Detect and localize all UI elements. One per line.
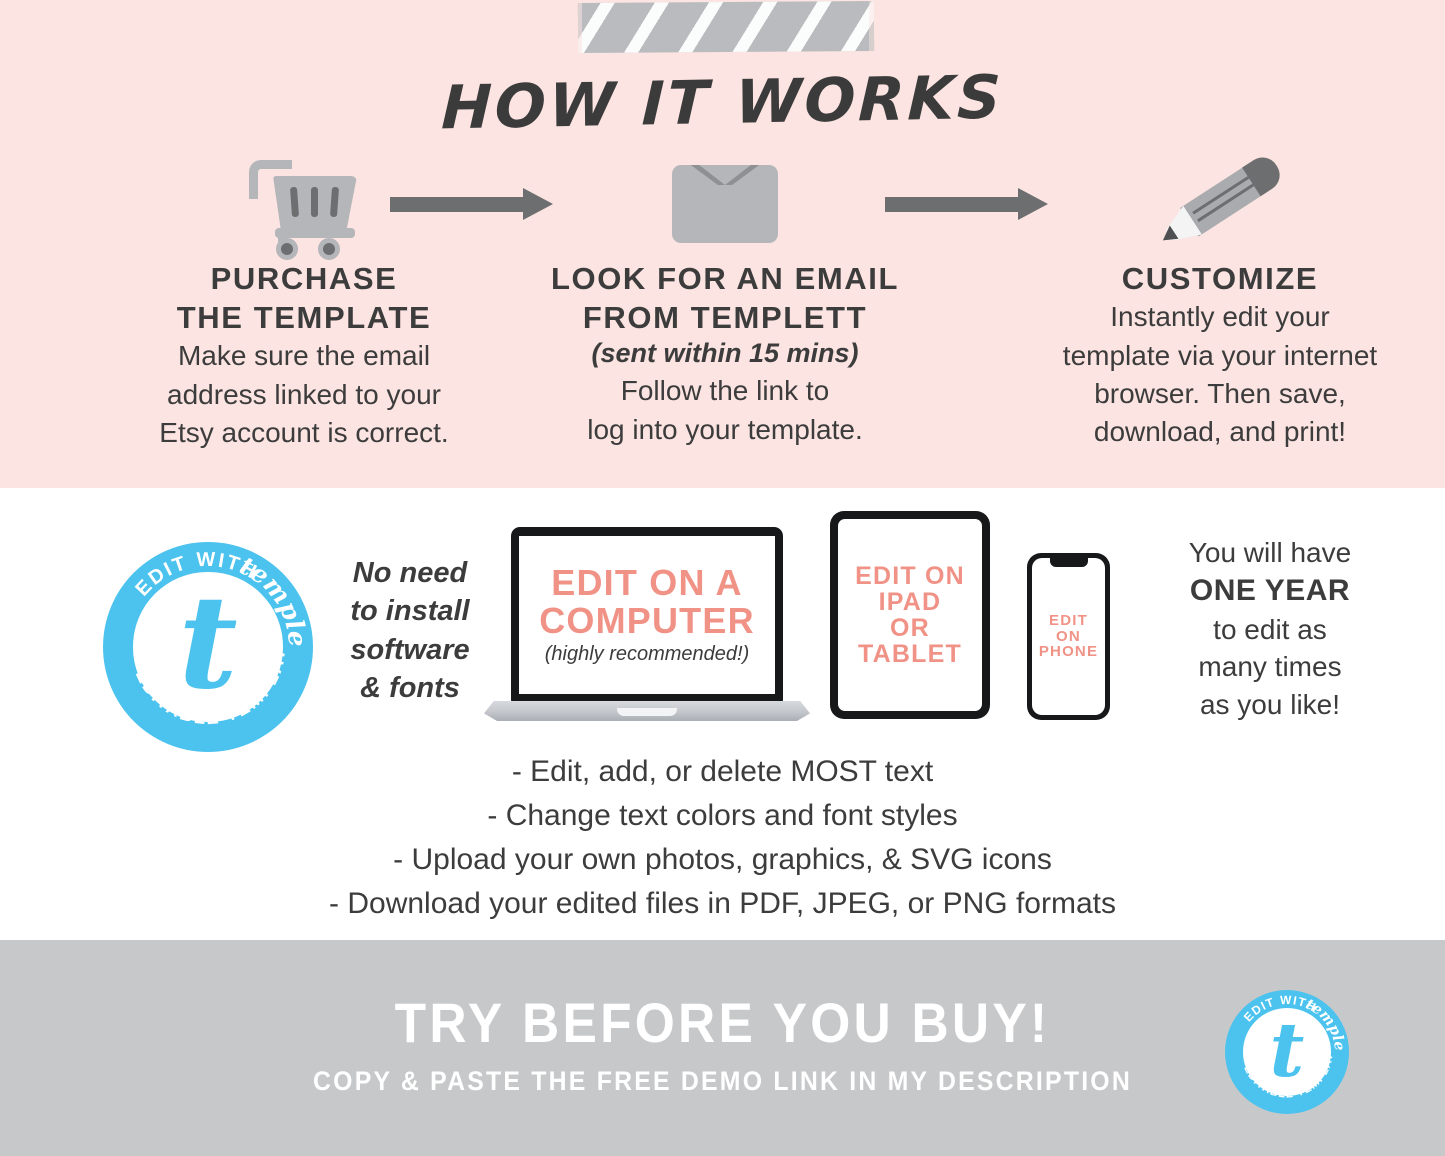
footer-headline: TRY BEFORE YOU BUY! [58, 990, 1387, 1055]
envelope-flap [672, 165, 778, 213]
step-icon-slot [84, 150, 524, 258]
top-pink-section: HOW IT WORKS [0, 0, 1445, 488]
tablet-line-4: TABLET [855, 641, 965, 667]
step1-heading-line2: THE TEMPLATE [84, 299, 524, 336]
laptop-device: EDIT ON A COMPUTER (highly recommended!) [484, 527, 810, 723]
one-year-line-2: to edit as [1120, 611, 1420, 648]
templett-badge-main: EDIT WITH templett EDITABLE TEMPLATE t [103, 542, 313, 752]
badge-center-letter: t [103, 542, 313, 752]
step1-body-line2: address linked to your [84, 377, 524, 413]
tablet-device: EDIT ON IPAD OR TABLET [830, 511, 990, 719]
one-year-line-4: as you like! [1120, 686, 1420, 723]
no-need-line-3: software [330, 631, 490, 669]
pencil-rotation-group [1162, 154, 1283, 249]
step3-body-line1: Instantly edit your [1000, 299, 1440, 335]
one-year-highlight: ONE YEAR [1120, 571, 1420, 611]
laptop-screen: EDIT ON A COMPUTER (highly recommended!) [519, 536, 775, 694]
laptop-lid: EDIT ON A COMPUTER (highly recommended!) [511, 527, 783, 703]
one-year-text: You will have ONE YEAR to edit as many t… [1120, 534, 1420, 723]
step-look-for-email: LOOK FOR AN EMAIL FROM TEMPLETT (sent wi… [505, 150, 945, 448]
step2-heading-line2: FROM TEMPLETT [505, 299, 945, 336]
pencil-icon [1155, 156, 1285, 252]
cart-wheel [318, 238, 340, 260]
badge-center-letter: t [1225, 990, 1349, 1114]
no-need-line-4: & fonts [330, 669, 490, 707]
step1-body-line3: Etsy account is correct. [84, 415, 524, 451]
laptop-notch [617, 708, 677, 716]
washi-tape-edge [578, 1, 874, 53]
phone-screen: EDIT ON PHONE [1032, 558, 1105, 715]
step3-heading-line1: CUSTOMIZE [1000, 260, 1440, 297]
step-icon-slot [1000, 150, 1440, 258]
step-customize: CUSTOMIZE Instantly edit your template v… [1000, 150, 1440, 451]
laptop-line-2: COMPUTER [539, 602, 755, 640]
phone-device: EDIT ON PHONE [1027, 553, 1110, 720]
bullet-item-3: - Upload your own photos, graphics, & SV… [0, 838, 1445, 882]
phone-line-1: EDIT [1039, 613, 1098, 629]
no-need-to-install-text: No need to install software & fonts [330, 554, 490, 707]
one-year-line-1: You will have [1120, 534, 1420, 571]
phone-notch [1050, 558, 1088, 567]
step2-heading-line1: LOOK FOR AN EMAIL [505, 260, 945, 297]
bullet-item-1: - Edit, add, or delete MOST text [0, 750, 1445, 794]
bullet-item-4: - Download your edited files in PDF, JPE… [0, 882, 1445, 926]
step3-body-line4: download, and print! [1000, 414, 1440, 450]
tablet-line-1: EDIT ON [855, 563, 965, 589]
step3-body-line2: template via your internet [1000, 338, 1440, 374]
step2-emphasis: (sent within 15 mins) [505, 336, 945, 371]
cart-rail [275, 228, 355, 238]
laptop-sub: (highly recommended!) [545, 643, 750, 666]
one-year-line-3: many times [1120, 648, 1420, 685]
step2-body-line2: log into your template. [505, 412, 945, 448]
no-need-line-2: to install [330, 592, 490, 630]
step3-body-line3: browser. Then save, [1000, 376, 1440, 412]
no-need-line-1: No need [330, 554, 490, 592]
page-title: HOW IT WORKS [0, 54, 1445, 152]
step-purchase: PURCHASE THE TEMPLATE Make sure the emai… [84, 150, 524, 452]
cart-slot [311, 187, 318, 217]
footer-subline: COPY & PASTE THE FREE DEMO LINK IN MY DE… [58, 1066, 1387, 1097]
washi-tape-icon [578, 1, 874, 53]
tablet-screen: EDIT ON IPAD OR TABLET [838, 519, 982, 711]
bullet-item-2: - Change text colors and font styles [0, 794, 1445, 838]
cart-wheel [276, 238, 298, 260]
templett-badge-footer: EDIT WITH templett EDITABLE TEMPLATE t [1225, 990, 1349, 1114]
laptop-line-1: EDIT ON A [551, 564, 742, 602]
shopping-cart-icon [245, 154, 363, 254]
how-it-works-infographic: HOW IT WORKS [0, 0, 1445, 1156]
step1-heading-line1: PURCHASE [84, 260, 524, 297]
tablet-line-2: IPAD [855, 589, 965, 615]
envelope-icon [672, 165, 778, 243]
feature-bullet-list: - Edit, add, or delete MOST text - Chang… [0, 750, 1445, 926]
step1-body-line1: Make sure the email [84, 338, 524, 374]
step2-body-line1: Follow the link to [505, 373, 945, 409]
phone-line-2: ON [1039, 629, 1098, 645]
step-icon-slot [505, 150, 945, 258]
steps-row: PURCHASE THE TEMPLATE Make sure the emai… [0, 150, 1445, 470]
tablet-line-3: OR [855, 615, 965, 641]
phone-line-3: PHONE [1039, 644, 1098, 660]
